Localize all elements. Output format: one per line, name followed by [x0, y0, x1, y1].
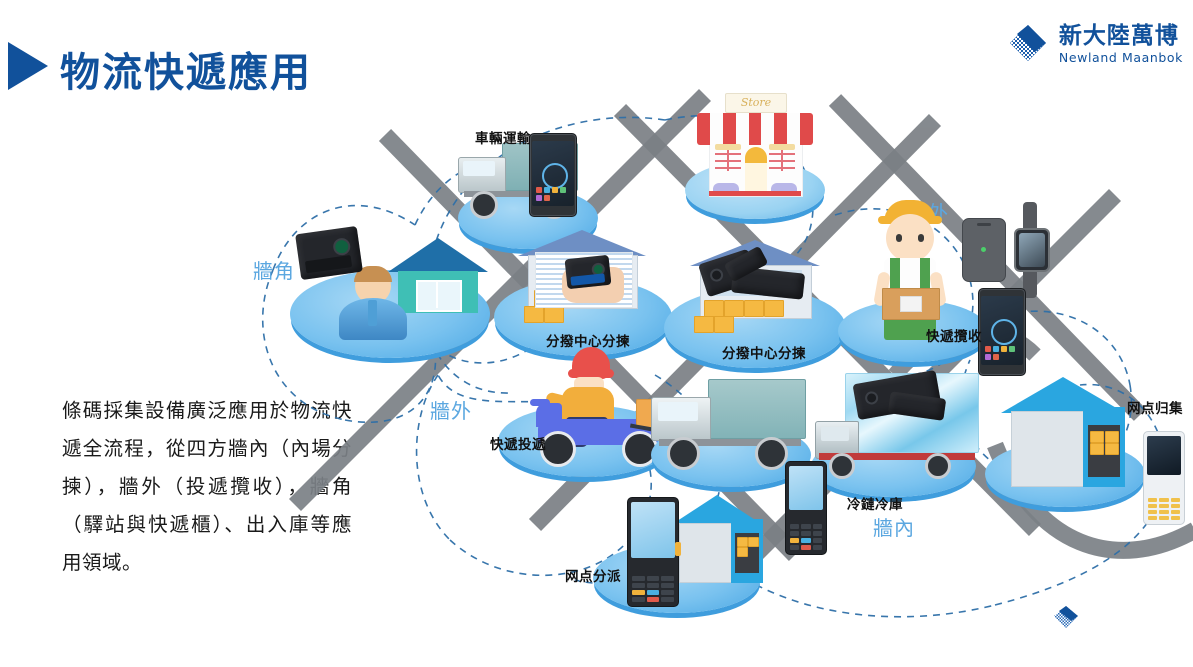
warehouse-house-illustration	[667, 495, 765, 591]
pda-device-icon	[627, 497, 679, 607]
node-label-express-delivery: 快遞投遞	[490, 433, 546, 453]
newland-diamond-logo-icon	[1005, 22, 1051, 68]
warehouse-house-illustration	[995, 377, 1135, 495]
smartphone-device-icon	[529, 133, 577, 217]
slide-root: 物流快遞應用 新大陸萬博 Newland Maanbok	[0, 0, 1193, 667]
courier-character-illustration	[866, 200, 956, 340]
node-label-express-pickup: 快遞攬收	[926, 325, 982, 345]
node-label-branch-dispatch: 网点分派	[565, 565, 621, 585]
logistics-flow-diagram: 牆角 牆外 牆外 牆內	[235, 75, 1193, 655]
avatar-person-icon	[335, 268, 411, 340]
node-label-branch-collection: 网点归集	[1127, 397, 1183, 417]
node-sorting-center-right: 分撥中心分揀	[660, 240, 850, 375]
pda-device-icon	[785, 461, 827, 555]
fixed-scanner-device-icon	[295, 226, 363, 280]
zone-label-outside-wall-lower: 牆外	[430, 395, 472, 424]
handheld-scanner-device-icon	[702, 252, 812, 314]
triangle-right-icon	[8, 42, 48, 90]
logo-name-en: Newland Maanbok	[1059, 52, 1183, 65]
logo-name-cn: 新大陸萬博	[1059, 25, 1183, 48]
node-branch-collection: 网点归集	[975, 365, 1193, 535]
smartphone-device-icon	[978, 288, 1026, 376]
smartwatch-device-icon	[1012, 202, 1048, 298]
store-sign-label: Store	[725, 93, 787, 113]
cold-chain-truck-illustration	[815, 373, 985, 483]
tablet-device-icon	[962, 218, 1006, 282]
brand-logo: 新大陸萬博 Newland Maanbok	[1005, 22, 1183, 68]
node-retail-store: Store	[675, 83, 835, 223]
feature-phone-device-icon	[1143, 431, 1185, 525]
node-label-sorting-center-right: 分撥中心分揀	[722, 342, 806, 362]
truck-illustration	[651, 379, 806, 467]
node-express-pickup: 快遞攬收	[830, 190, 1020, 380]
store-illustration: Store	[693, 91, 817, 201]
node-label-vehicle-transport: 車輛運輸	[475, 127, 531, 147]
wearable-ring-scanner-photo	[535, 252, 633, 308]
node-label-cold-chain-storage: 冷鏈冷庫	[847, 493, 903, 513]
node-branch-dispatch: 网点分派	[565, 485, 765, 625]
